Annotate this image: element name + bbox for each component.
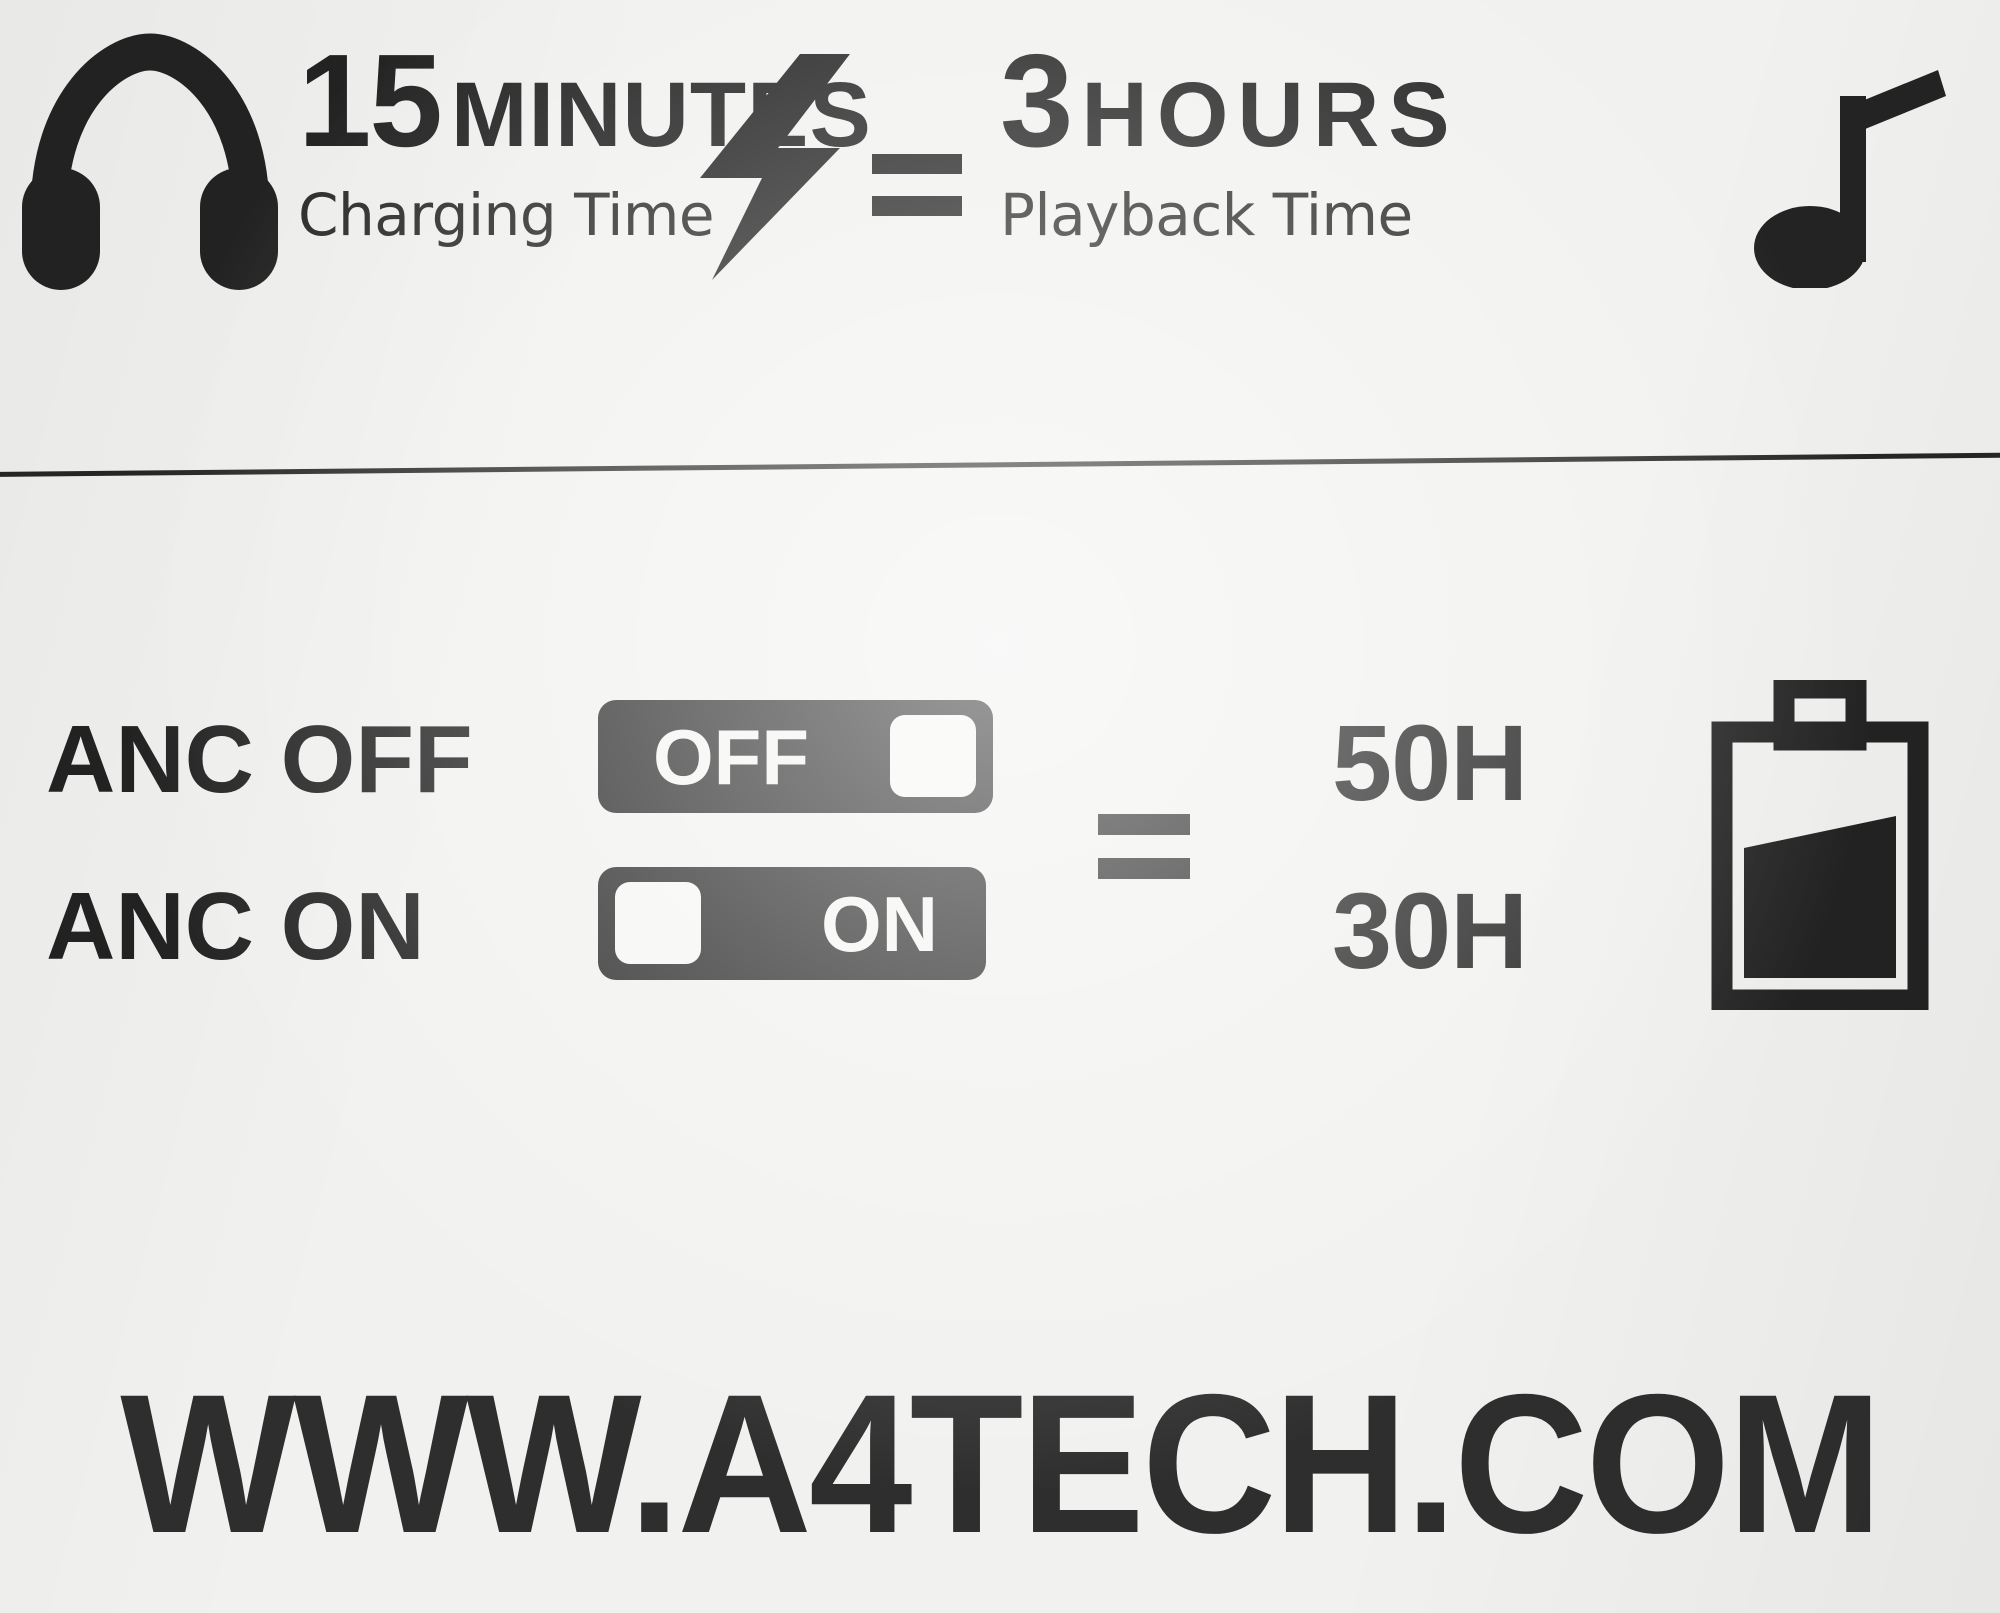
anc-off-battery-hours: 50H — [1332, 700, 1527, 825]
headphone-icon — [14, 30, 286, 292]
playback-time-block: 3HOURS Playback Time — [1000, 38, 1520, 249]
playback-unit: HOURS — [1081, 64, 1458, 166]
anc-on-toggle-knob[interactable] — [615, 882, 701, 964]
anc-battery-row: ANC OFF ANC ON OFF ON 50H 30H — [0, 500, 2000, 1060]
product-spec-panel: 15MINUTES Charging Time 3HOURS Playback … — [0, 0, 2000, 1613]
charging-caption: Charging Time — [298, 181, 698, 249]
anc-on-toggle[interactable]: ON — [598, 867, 986, 980]
charging-playback-row: 15MINUTES Charging Time 3HOURS Playback … — [0, 0, 2000, 490]
anc-on-toggle-label: ON — [821, 885, 938, 963]
playback-headline: 3HOURS — [1000, 38, 1520, 163]
anc-off-toggle[interactable]: OFF — [598, 700, 993, 813]
charging-headline: 15MINUTES — [298, 38, 698, 163]
charging-value: 15 — [298, 27, 441, 174]
charging-time-block: 15MINUTES Charging Time — [298, 38, 698, 249]
anc-on-battery-hours: 30H — [1332, 868, 1527, 993]
anc-off-label: ANC OFF — [46, 705, 473, 815]
lightning-bolt-icon — [690, 52, 880, 282]
battery-icon — [1700, 680, 1940, 1010]
website-url[interactable]: WWW.A4TECH.COM — [60, 1350, 1940, 1577]
playback-caption: Playback Time — [1000, 181, 1520, 249]
music-note-icon — [1752, 48, 1972, 288]
anc-off-toggle-label: OFF — [653, 718, 809, 796]
anc-on-label: ANC ON — [46, 872, 425, 982]
equals-sign-anc — [1098, 810, 1190, 882]
playback-value: 3 — [1000, 27, 1071, 174]
anc-off-toggle-knob[interactable] — [890, 715, 976, 797]
equals-sign-charging — [872, 150, 962, 220]
